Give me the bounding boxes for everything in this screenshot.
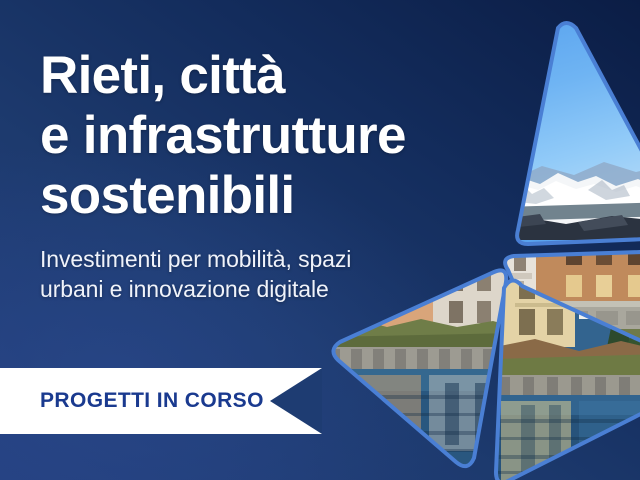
page-subtitle: Investimenti per mobilità, spazi urbani … — [40, 244, 510, 304]
headline-block: Rieti, città e infrastrutture sostenibil… — [40, 46, 510, 304]
page-title: Rieti, città e infrastrutture sostenibil… — [40, 46, 510, 226]
ribbon-notch-shape — [270, 368, 322, 434]
promotional-banner: Rieti, città e infrastrutture sostenibil… — [0, 0, 640, 480]
status-ribbon: PROGETTI IN CORSO — [0, 368, 322, 434]
triangle-photo-mountains — [517, 23, 640, 244]
status-badge: PROGETTI IN CORSO — [0, 389, 264, 413]
